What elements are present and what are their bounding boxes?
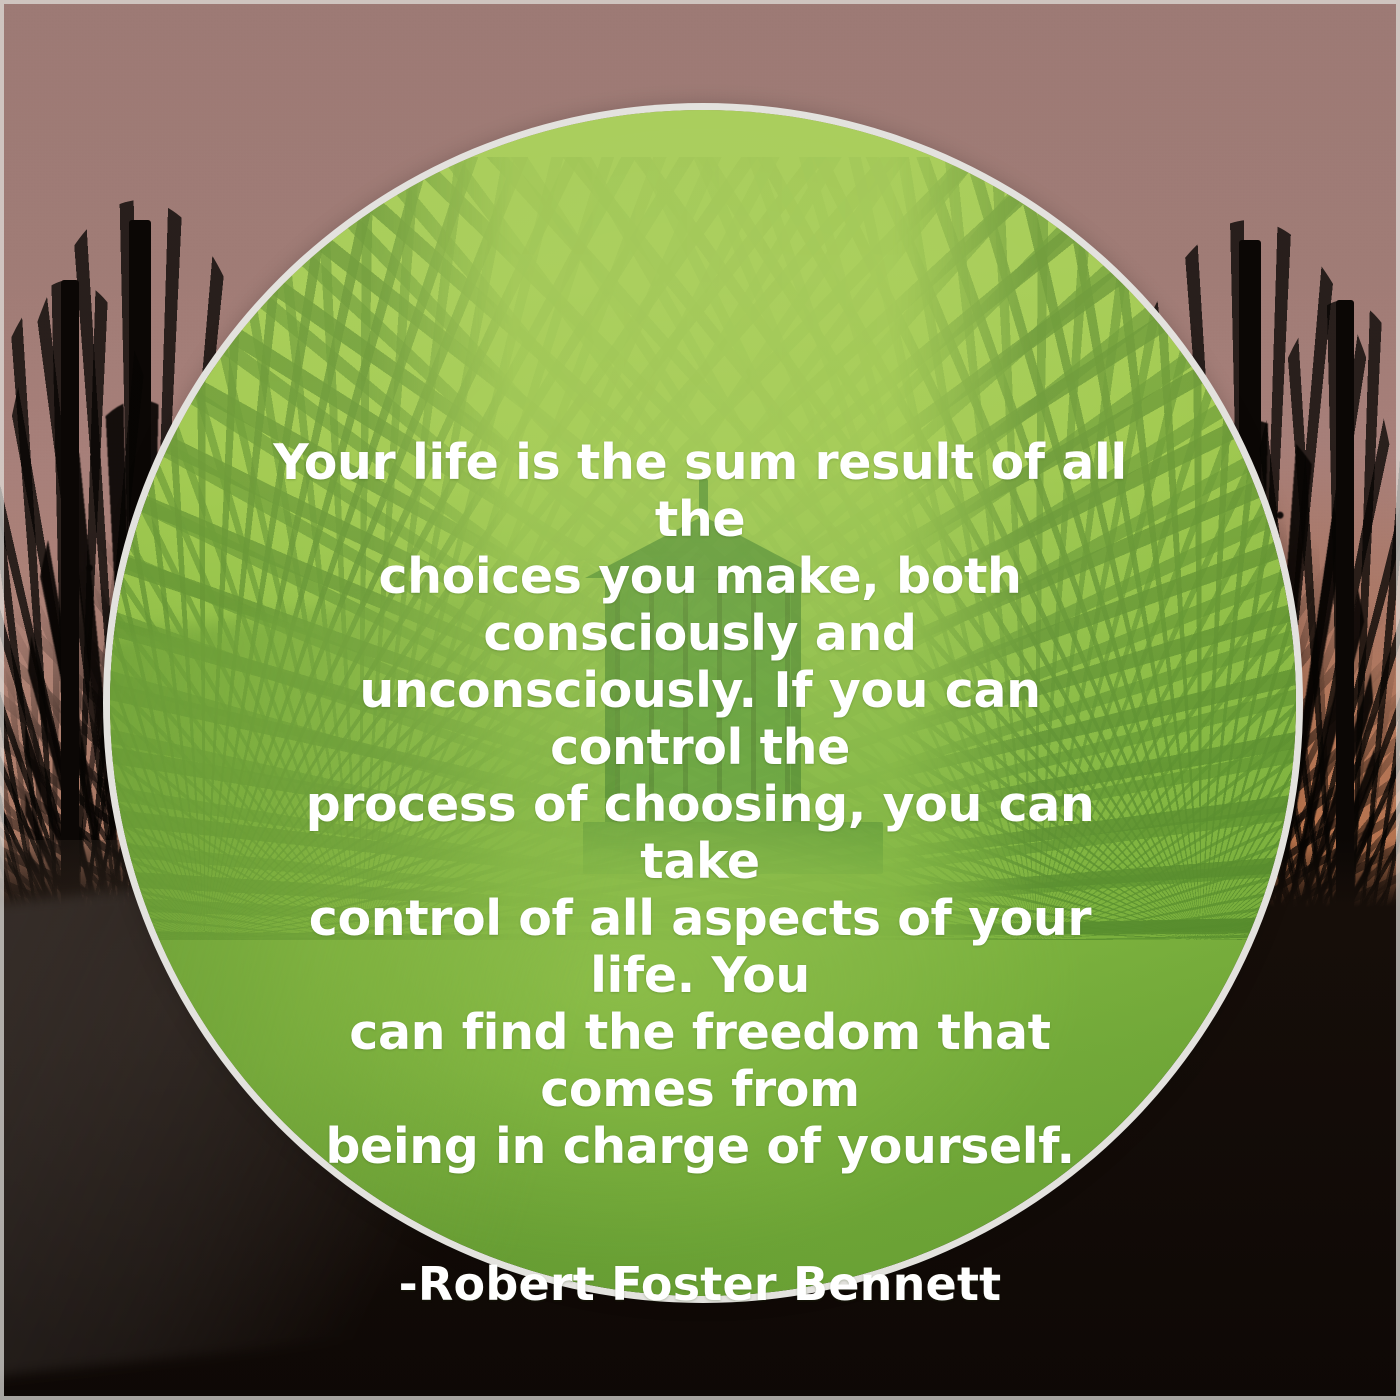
quote-line: process of choosing, you can take — [260, 776, 1140, 890]
quote-author: -Robert Foster Bennett — [260, 1257, 1140, 1311]
quote-line: control of all aspects of your life. You — [260, 890, 1140, 1004]
quote-line: choices you make, both consciously and — [260, 548, 1140, 662]
quote-line: Your life is the sum result of all the — [260, 434, 1140, 548]
quote-block: Your life is the sum result of all the c… — [260, 434, 1140, 1311]
quote-line: being in charge of yourself. — [260, 1118, 1140, 1175]
quote-poster: Your life is the sum result of all the c… — [0, 0, 1400, 1400]
quote-line: can find the freedom that comes from — [260, 1004, 1140, 1118]
quote-line: unconsciously. If you can control the — [260, 662, 1140, 776]
